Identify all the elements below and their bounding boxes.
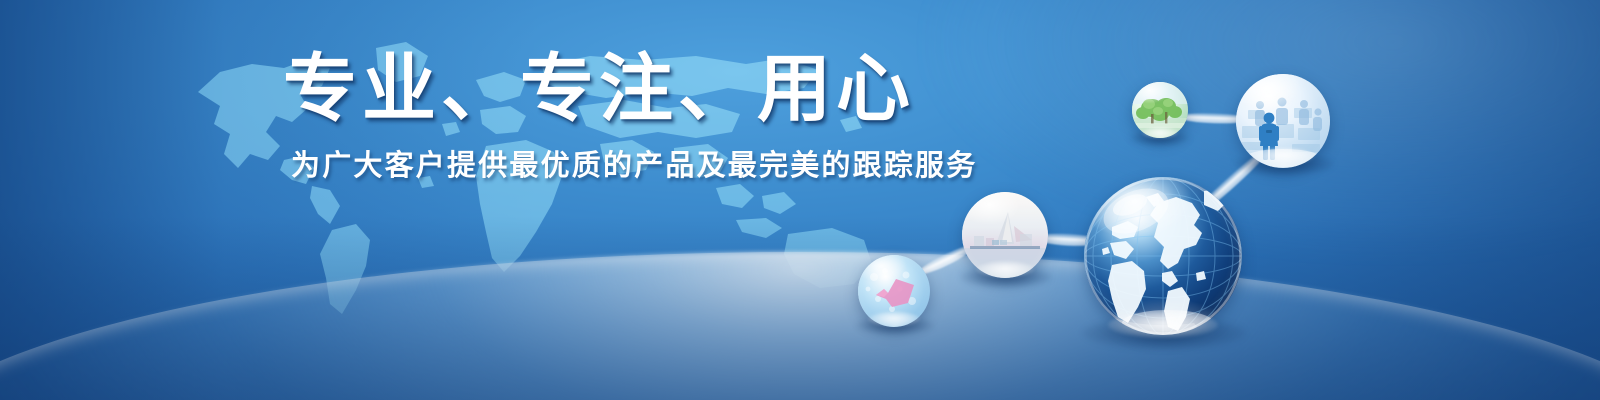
sphere-network [0,0,1600,400]
port-sphere-base [976,262,1034,277]
nature-sphere-base [1142,128,1178,138]
map-sphere-base [868,312,920,326]
hero-banner: 专业、专注、用心 为广大客户提供最优质的产品及最完美的跟踪服务 [0,0,1600,400]
main-globe-base [1108,312,1218,338]
people-sphere-base [1254,148,1314,164]
